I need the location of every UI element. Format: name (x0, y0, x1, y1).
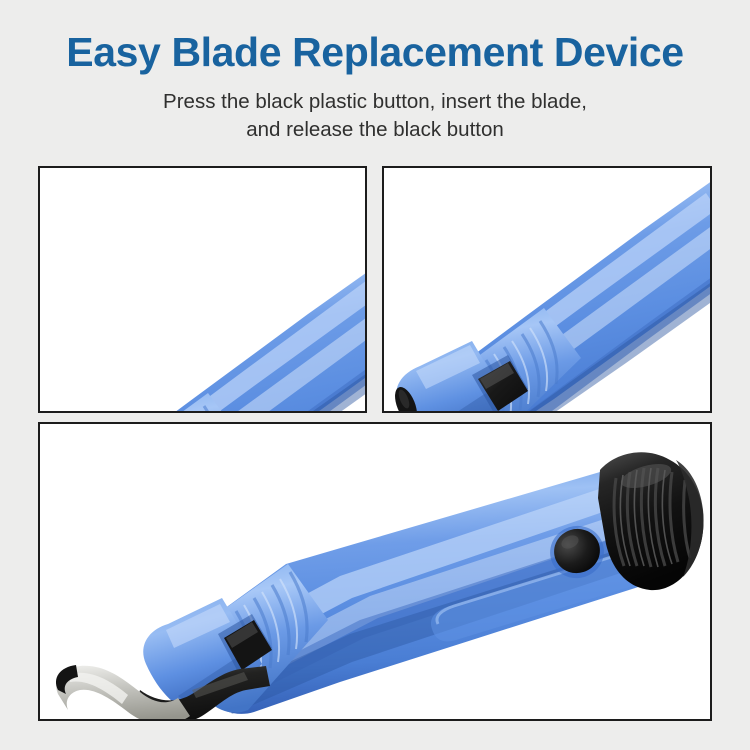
tool-tip-illustration-highlighted (40, 168, 365, 411)
photo-panel-tool-and-blade (382, 166, 712, 413)
photo-panel-assembled-tool (38, 422, 712, 721)
infographic-page: Easy Blade Replacement Device Press the … (0, 0, 750, 750)
page-title: Easy Blade Replacement Device (0, 28, 750, 76)
photo-stage-bottom (40, 424, 710, 719)
assembled-tool-illustration (40, 424, 710, 719)
photo-stage-top-left (40, 168, 365, 411)
photo-stage-top-right (384, 168, 710, 411)
subtitle-line-2: and release the black button (0, 116, 750, 144)
header: Easy Blade Replacement Device Press the … (0, 0, 750, 160)
tool-tip-and-blade-illustration (384, 168, 710, 411)
blue-tool-body (96, 263, 365, 411)
subtitle-line-1: Press the black plastic button, insert t… (0, 88, 750, 116)
page-subtitle: Press the black plastic button, insert t… (0, 88, 750, 144)
photo-panel-button-highlighted (38, 166, 367, 413)
